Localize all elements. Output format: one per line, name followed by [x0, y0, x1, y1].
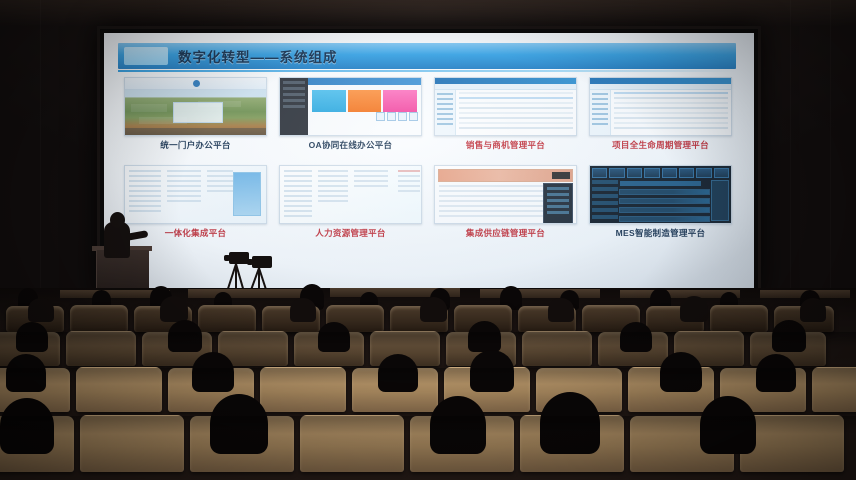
platform-card-sales: 销售与商机管理平台	[428, 77, 583, 151]
projection-screen-frame: 数字化转型——系统组成	[97, 26, 761, 295]
title-accent-chip	[124, 47, 168, 65]
portal-overlay-card	[173, 102, 223, 124]
mes-title-bar	[620, 181, 701, 186]
platform-caption: 销售与商机管理平台	[428, 140, 583, 151]
platform-card-integration: 一体化集成平台	[118, 165, 273, 239]
platform-caption: 集成供应链管理平台	[428, 228, 583, 239]
integration-blue-panel	[233, 172, 261, 216]
platform-card-portal: 统一门户办公平台	[118, 77, 273, 151]
ceiling-light-glow	[0, 0, 856, 26]
platform-caption: 项目全生命周期管理平台	[583, 140, 738, 151]
platform-grid: 统一门户办公平台	[118, 77, 740, 239]
platform-caption: 人力资源管理平台	[273, 228, 428, 239]
slide-title-band: 数字化转型——系统组成	[118, 43, 736, 69]
supply-chain-thumbnail	[434, 165, 577, 224]
conference-hall-scene: 数字化转型——系统组成	[0, 0, 856, 480]
platform-card-mes: MES智能制造管理平台	[583, 165, 738, 239]
video-camera-left	[229, 252, 249, 264]
project-thumbnail	[589, 77, 732, 136]
sales-thumbnail	[434, 77, 577, 136]
portal-logo-icon	[193, 80, 200, 87]
portal-thumbnail	[124, 77, 267, 136]
platform-caption: OA协同在线办公平台	[273, 140, 428, 151]
oa-thumbnail	[279, 77, 422, 136]
supply-header-bar	[438, 169, 573, 182]
projected-slide: 数字化转型——系统组成	[104, 33, 754, 288]
oa-tiles	[312, 90, 417, 112]
video-camera-right	[252, 256, 272, 268]
oa-quick-buttons	[376, 112, 418, 121]
platform-card-project: 项目全生命周期管理平台	[583, 77, 738, 151]
integration-thumbnail	[124, 165, 267, 224]
mes-right-panel	[711, 180, 729, 221]
platform-caption: 统一门户办公平台	[118, 140, 273, 151]
mes-nav-buttons	[590, 166, 731, 180]
audience-floor	[0, 288, 856, 480]
oa-sidebar	[280, 78, 308, 135]
speaker-head	[110, 212, 125, 228]
platform-caption: MES智能制造管理平台	[583, 228, 738, 239]
aerial-photo	[125, 90, 266, 135]
platform-row-top: 统一门户办公平台	[118, 77, 740, 151]
hr-thumbnail	[279, 165, 422, 224]
mes-left-gauges	[592, 180, 618, 221]
oa-top-bar	[308, 78, 421, 85]
title-underline	[118, 70, 736, 72]
portal-caption-strip	[125, 128, 266, 135]
mes-thumbnail	[589, 165, 732, 224]
platform-row-bottom: 一体化集成平台 人力资源管理平台	[118, 165, 740, 239]
supply-side-widget	[543, 183, 573, 224]
platform-card-supply: 集成供应链管理平台	[428, 165, 583, 239]
platform-card-oa: OA协同在线办公平台	[273, 77, 428, 151]
slide-title: 数字化转型——系统组成	[178, 46, 338, 66]
platform-card-hr: 人力资源管理平台	[273, 165, 428, 239]
